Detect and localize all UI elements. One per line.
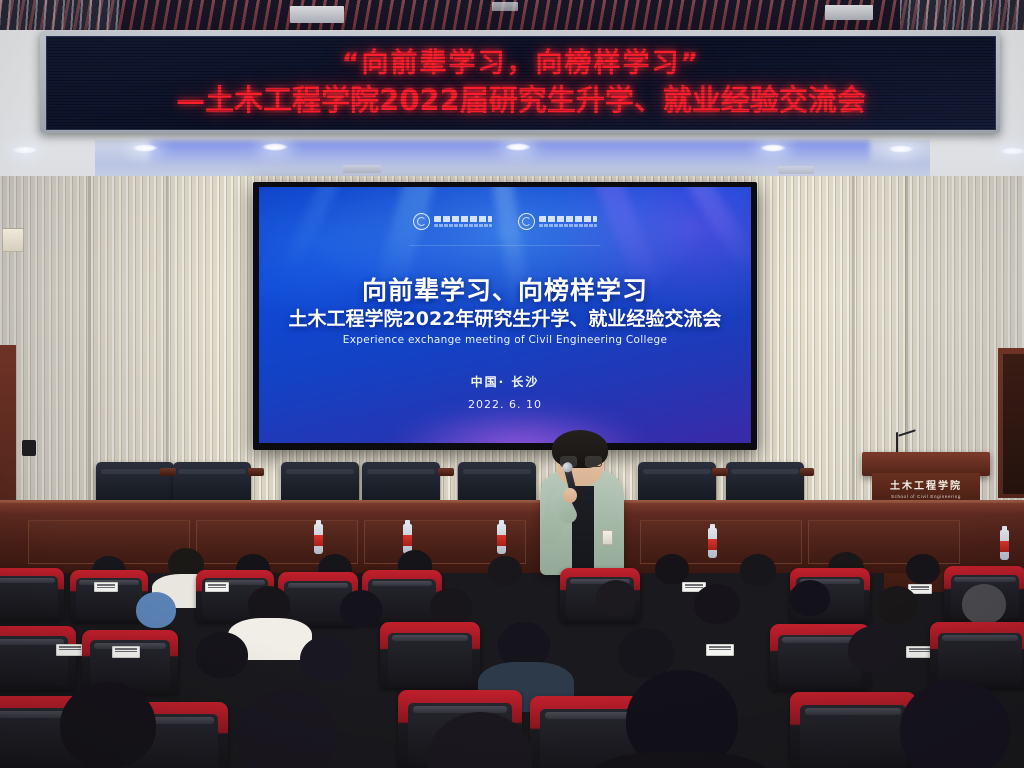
audience-head bbox=[848, 626, 900, 672]
banner-line-2: —土木工程学院2022届研究生升学、就业经验交流会 bbox=[176, 81, 866, 119]
audience-head bbox=[300, 636, 352, 682]
side-door-right[interactable] bbox=[998, 348, 1024, 498]
university-logo-left-icon bbox=[413, 213, 492, 230]
logo-chinese-name-right bbox=[539, 216, 597, 222]
audience-head bbox=[876, 586, 918, 624]
seat-number-tag bbox=[94, 582, 118, 592]
ceiling-light-panel-2 bbox=[825, 5, 873, 20]
audience-head bbox=[488, 556, 522, 586]
podium-chinese-label: 土木工程学院 bbox=[890, 477, 962, 492]
logo-text-right bbox=[539, 216, 597, 227]
chair-armrest-3 bbox=[438, 468, 454, 476]
logo-english-name-left bbox=[434, 224, 492, 227]
audience-head bbox=[655, 554, 689, 584]
audience-head bbox=[906, 554, 940, 584]
wall-outlet bbox=[22, 440, 36, 456]
wall-mounted-box bbox=[2, 228, 24, 252]
seat-headrest-bar bbox=[392, 635, 468, 641]
seat-number-tag bbox=[706, 644, 734, 656]
slide-subtitle: 土木工程学院2022年研究生升学、就业经验交流会 bbox=[259, 304, 751, 331]
ceiling-downlight-2 bbox=[132, 144, 158, 152]
ceiling-light-panel-3 bbox=[492, 2, 518, 11]
ceiling-downlight-4 bbox=[505, 143, 531, 151]
ceiling-downlight-5 bbox=[760, 144, 786, 152]
chair-armrest-2 bbox=[248, 468, 264, 476]
podium-english-label: School of Civil Engineering bbox=[891, 494, 961, 499]
audience-head-foreground bbox=[236, 690, 336, 768]
seat-headrest-bar bbox=[372, 581, 433, 586]
audience-head bbox=[962, 584, 1006, 624]
ceiling-slats-right bbox=[900, 0, 1024, 34]
chair-armrest-4 bbox=[712, 468, 728, 476]
seat-headrest-bar bbox=[0, 639, 64, 645]
logo-emblem-right-icon bbox=[518, 213, 535, 230]
university-logo-right-icon bbox=[518, 213, 597, 230]
seat-number-tag bbox=[205, 582, 229, 592]
seat-headrest-bar bbox=[942, 635, 1018, 641]
ceiling-downlight-1 bbox=[12, 146, 38, 154]
seat-headrest-bar bbox=[954, 577, 1016, 582]
seat-number-tag bbox=[112, 646, 140, 658]
seat bbox=[0, 626, 76, 690]
seat-headrest-bar bbox=[805, 708, 901, 715]
seat-headrest-bar bbox=[0, 578, 55, 583]
chair-armrest-5 bbox=[800, 468, 814, 476]
seat bbox=[380, 622, 480, 688]
ceiling-light-panel-1 bbox=[290, 6, 344, 23]
audience-head bbox=[196, 632, 248, 678]
seat bbox=[790, 692, 916, 768]
auditorium-photo: “向前辈学习，向榜样学习” —土木工程学院2022届研究生升学、就业经验交流会 bbox=[0, 0, 1024, 768]
podium-nameplate: 土木工程学院 School of Civil Engineering bbox=[872, 473, 980, 503]
ceiling-vent-right bbox=[778, 166, 814, 174]
led-banner: “向前辈学习，向榜样学习” —土木工程学院2022届研究生升学、就业经验交流会 bbox=[46, 36, 996, 130]
banner-line-1: “向前辈学习，向榜样学习” bbox=[342, 47, 701, 81]
speaker-hand bbox=[563, 488, 577, 503]
audience-area bbox=[0, 540, 1024, 768]
audience-head-foreground bbox=[900, 680, 1010, 768]
door-panel-right bbox=[1003, 354, 1024, 494]
light-ray-5 bbox=[277, 187, 346, 279]
slide-english-line: Experience exchange meeting of Civil Eng… bbox=[259, 334, 751, 346]
audience-head bbox=[694, 584, 740, 624]
slide-title: 向前辈学习、向榜样学习 bbox=[259, 271, 751, 307]
audience-head bbox=[740, 554, 776, 586]
audience-head bbox=[618, 628, 674, 678]
ceiling-slats-left bbox=[0, 0, 120, 34]
light-ray-4 bbox=[681, 187, 751, 277]
audience-head bbox=[790, 580, 830, 616]
logo-english-name-right bbox=[539, 224, 597, 227]
seat-headrest-bar bbox=[288, 583, 349, 588]
logo-text-left bbox=[434, 216, 492, 227]
audience-head bbox=[430, 588, 472, 626]
seat bbox=[930, 622, 1024, 688]
seat-headrest-bar bbox=[782, 637, 858, 643]
ceiling-downlight-7 bbox=[1000, 147, 1024, 155]
seat-number-tag bbox=[56, 644, 84, 656]
audience-head bbox=[136, 592, 176, 628]
logo-emblem-left-icon bbox=[413, 213, 430, 230]
ceiling-downlight-6 bbox=[888, 145, 914, 153]
logo-chinese-name-left bbox=[434, 216, 492, 222]
projection-screen: 向前辈学习、向榜样学习 土木工程学院2022年研究生升学、就业经验交流会 Exp… bbox=[259, 187, 751, 443]
seat bbox=[0, 568, 64, 620]
ceiling-downlight-3 bbox=[262, 143, 288, 151]
slide-logo-row bbox=[259, 213, 751, 230]
side-door-left[interactable] bbox=[0, 345, 16, 505]
audience-head bbox=[340, 590, 382, 628]
seat-headrest-bar bbox=[413, 706, 507, 713]
ceiling-vent-left bbox=[343, 165, 381, 173]
chair-armrest-1 bbox=[160, 468, 176, 476]
audience-head-foreground bbox=[60, 682, 156, 768]
audience-head bbox=[596, 580, 636, 616]
